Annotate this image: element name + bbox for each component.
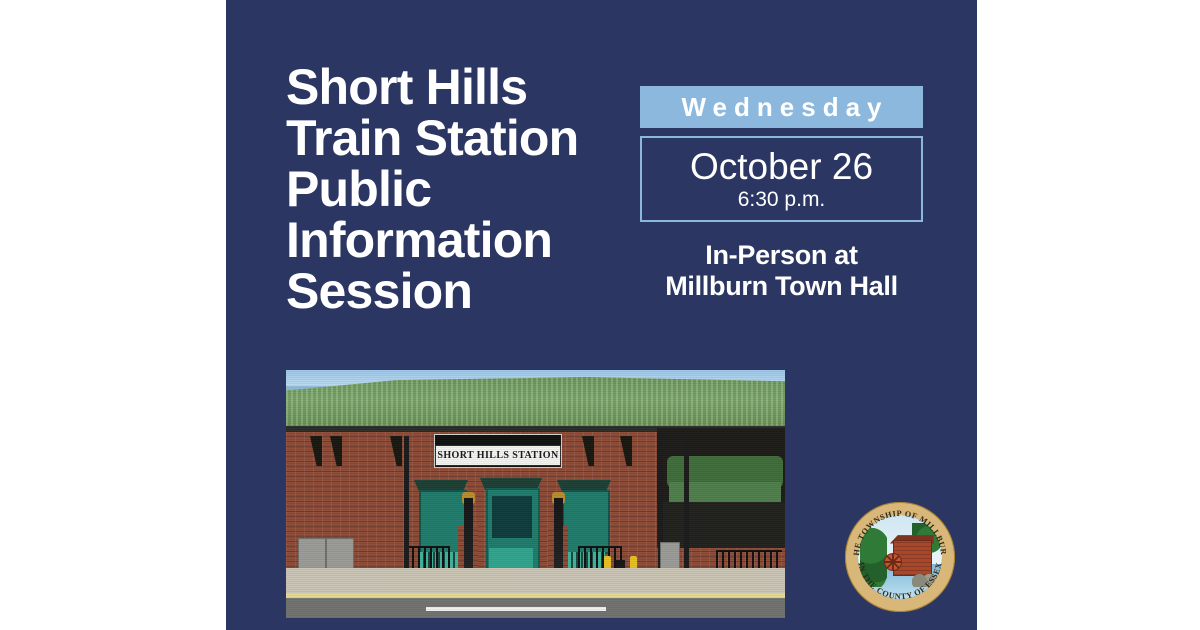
event-weekday-banner: Wednesday (640, 86, 923, 128)
short-hills-station-photo: SHORT HILLS STATION (286, 370, 785, 618)
photo-road-stripe (426, 607, 606, 611)
photo-utility-pole (404, 436, 409, 582)
photo-door-panel (489, 548, 533, 568)
event-date: October 26 (690, 147, 873, 187)
photo-scene: SHORT HILLS STATION (286, 370, 785, 618)
station-sign: SHORT HILLS STATION (435, 445, 561, 466)
photo-utility-pole (684, 440, 689, 580)
event-location: In-Person at Millburn Town Hall (640, 240, 923, 302)
seal-water-wheel (884, 553, 902, 571)
poster-root: Short Hills Train Station Public Informa… (0, 0, 1200, 630)
township-of-millburn-seal: THE TOWNSHIP OF MILLBURN IN THE COUNTY O… (845, 502, 955, 612)
station-sign-text: SHORT HILLS STATION (437, 450, 558, 461)
page-title: Short Hills Train Station Public Informa… (286, 62, 626, 317)
event-date-box: October 26 6:30 p.m. (640, 136, 923, 222)
photo-window (562, 490, 610, 554)
seal-trees-left (860, 528, 887, 587)
event-details: Wednesday October 26 6:30 p.m. In-Person… (640, 86, 923, 302)
seal-rocks (912, 574, 937, 587)
event-time: 6:30 p.m. (738, 188, 826, 212)
seal-scene (858, 515, 942, 599)
photo-lamp-post (464, 498, 473, 574)
photo-door-glass (491, 495, 533, 539)
photo-roof-texture (286, 376, 785, 428)
photo-sidewalk (286, 568, 785, 594)
photo-lamp-post (554, 498, 563, 574)
